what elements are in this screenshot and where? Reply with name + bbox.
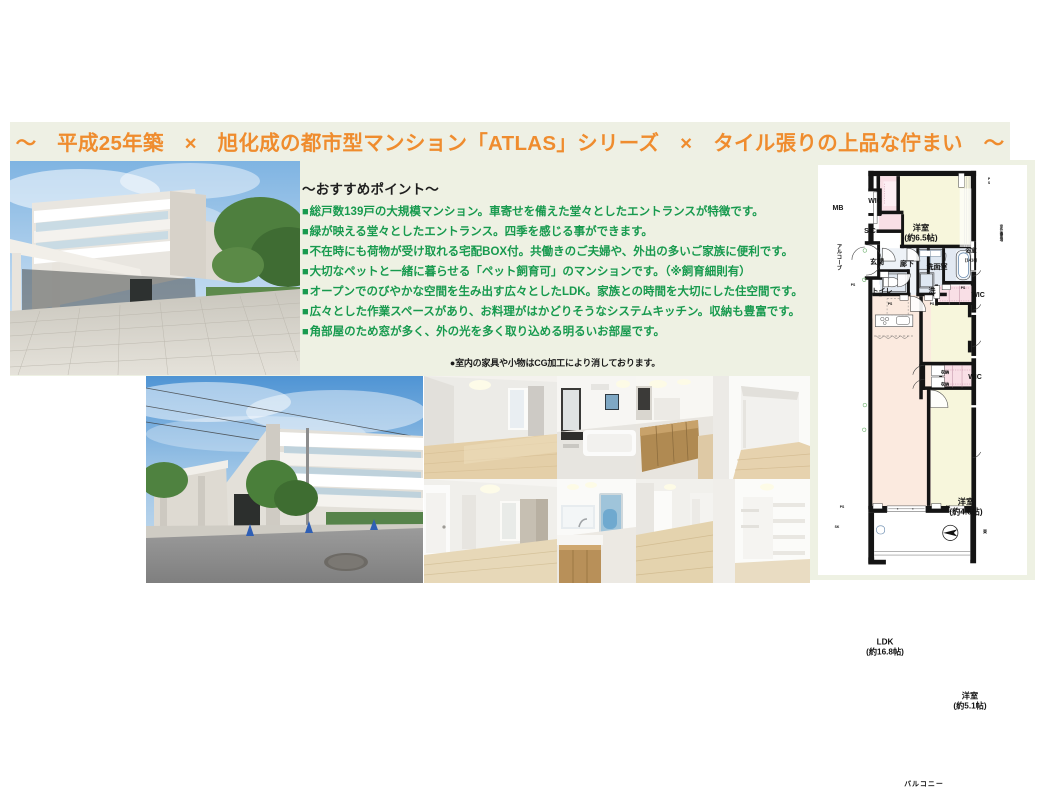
corridor-photo [636, 479, 713, 583]
bathroom-photo [557, 376, 636, 479]
entrance-photo [10, 161, 300, 375]
closet-interior-photo [713, 376, 810, 479]
interior-photo-grid [424, 376, 810, 583]
point-row: ■ 不在時にも荷物が受け取れる宅配BOX付。共働きのご夫婦や、外出の多いご家族に… [302, 245, 810, 259]
bullet-square-icon: ■ [302, 285, 309, 299]
point-text: オープンでのびやかな空間を生み出す広々としたLDK。家族との時間を大切にした住空… [310, 285, 803, 299]
bullet-square-icon: ■ [302, 205, 309, 219]
point-row: ■ 広々とした作業スペースがあり、お料理がはかどりそうなシステムキッチン。収納も… [302, 305, 810, 319]
area-label-sic: SIC [864, 228, 876, 236]
kitchen-counter-photo [636, 376, 713, 479]
tag-ps-top: PS [987, 177, 991, 185]
area-label-balcony: バルコニー [904, 781, 944, 789]
area-label-alcove: アルコーブ [836, 244, 841, 271]
point-row: ■ オープンでのびやかな空間を生み出す広々としたLDK。家族との時間を大切にした… [302, 285, 810, 299]
bullet-square-icon: ■ [302, 225, 309, 239]
point-text: 角部屋のため窓が多く、外の光を多く取り込める明るいお部屋です。 [310, 325, 665, 339]
tag-ps: PS [888, 302, 893, 306]
area-label-wic-lower: WIC [968, 374, 982, 382]
tag-sk: SK [835, 525, 840, 529]
room-label-bedroom-4-6: 洋室(約4.6帖) [949, 497, 982, 516]
area-label-storage-1: 収納 [941, 370, 949, 375]
bullet-square-icon: ■ [302, 325, 309, 339]
room-label-bedroom-5-1: 洋室(約5.1帖) [953, 691, 986, 710]
area-label-washroom: 洗面室 [927, 264, 948, 272]
hallway-living-photo [424, 479, 557, 583]
tag-ps: PS [930, 302, 935, 306]
header-title: ～ 平成25年築 × 旭化成の都市型マンション「ATLAS」シリーズ × タイル… [16, 126, 1005, 156]
walk-in-closet-shelving-photo [713, 479, 810, 583]
bullet-square-icon: ■ [302, 305, 309, 319]
header-band: ～ 平成25年築 × 旭化成の都市型マンション「ATLAS」シリーズ × タイル… [10, 122, 1010, 160]
property-flyer-page: ～ 平成25年築 × 旭化成の都市型マンション「ATLAS」シリーズ × タイル… [0, 0, 1040, 720]
room-label-ldk: LDK(約16.8帖) [866, 637, 904, 656]
compass-direction-label: 東 [983, 530, 987, 534]
apartment-floor-plan: 洋室(約6.5帖) 洋室(約4.6帖) 洋室(約5.1帖) LDK(約16.8帖… [818, 165, 1027, 575]
area-label-toilet: トイレ [872, 288, 893, 296]
tag-ps: PS [840, 505, 845, 509]
recommend-points-title: ～おすすめポイント～ [302, 178, 810, 198]
floor-plan-panel: 洋室(約6.5帖) 洋室(約4.6帖) 洋室(約5.1帖) LDK(約16.8帖… [810, 160, 1035, 580]
area-label-mb: MB [833, 205, 844, 213]
area-label-corridor: 廊下 [900, 261, 914, 269]
point-text: 総戸数139戸の大規模マンション。車寄せを備えた堂々としたエントランスが特徴です… [310, 205, 764, 219]
compass-rose [943, 525, 958, 540]
living-room-photo [424, 376, 557, 479]
point-text: 緑が映える堂々としたエントランス。四季を感じる事ができます。 [310, 225, 653, 239]
area-label-genkan: 玄関 [870, 259, 884, 267]
bullet-square-icon: ■ [302, 245, 309, 259]
area-label-wic-mid: WIC [971, 292, 985, 300]
bullet-square-icon: ■ [302, 265, 309, 279]
point-text: 不在時にも荷物が受け取れる宅配BOX付。共働きのご夫婦や、外出の多いご家族に便利… [310, 245, 793, 259]
tag-ps: PS [851, 283, 856, 287]
recommend-points-block: ～おすすめポイント～ ■ 総戸数139戸の大規模マンション。車寄せを備えた堂々と… [300, 178, 810, 345]
tag-ps: PS [946, 505, 951, 509]
point-row: ■ 大切なペットと一緒に暮らせる「ペット飼育可」のマンションです。（※飼育細則有… [302, 265, 810, 279]
area-label-washer: 洗 [929, 288, 936, 296]
point-row: ■ 緑が映える堂々としたエントランス。四季を感じる事ができます。 [302, 225, 810, 239]
area-label-outdoor-unit-space: 室外機置場 [999, 225, 1003, 242]
area-label-bathroom: 浴室 [965, 250, 976, 255]
area-label-storage-2: 収納 [941, 382, 949, 387]
area-label-bathroom-size: (1418) [965, 258, 977, 263]
point-row: ■ 総戸数139戸の大規模マンション。車寄せを備えた堂々としたエントランスが特徴… [302, 205, 810, 219]
exterior-street-photo [146, 376, 423, 583]
point-text: 大切なペットと一緒に暮らせる「ペット飼育可」のマンションです。（※飼育細則有） [310, 265, 751, 279]
point-row: ■ 角部屋のため窓が多く、外の光を多く取り込める明るいお部屋です。 [302, 325, 810, 339]
room-label-bedroom-6-5: 洋室(約6.5帖) [904, 223, 937, 242]
tag-ps: PS [961, 286, 966, 290]
area-label-wic-top: WIC [868, 198, 882, 206]
washroom-vanity-photo [557, 479, 636, 583]
cg-disclaimer-note: ●室内の家具や小物はCG加工により消しております。 [300, 356, 810, 369]
point-text: 広々とした作業スペースがあり、お料理がはかどりそうなシステムキッチン。収納も豊富… [310, 305, 800, 319]
